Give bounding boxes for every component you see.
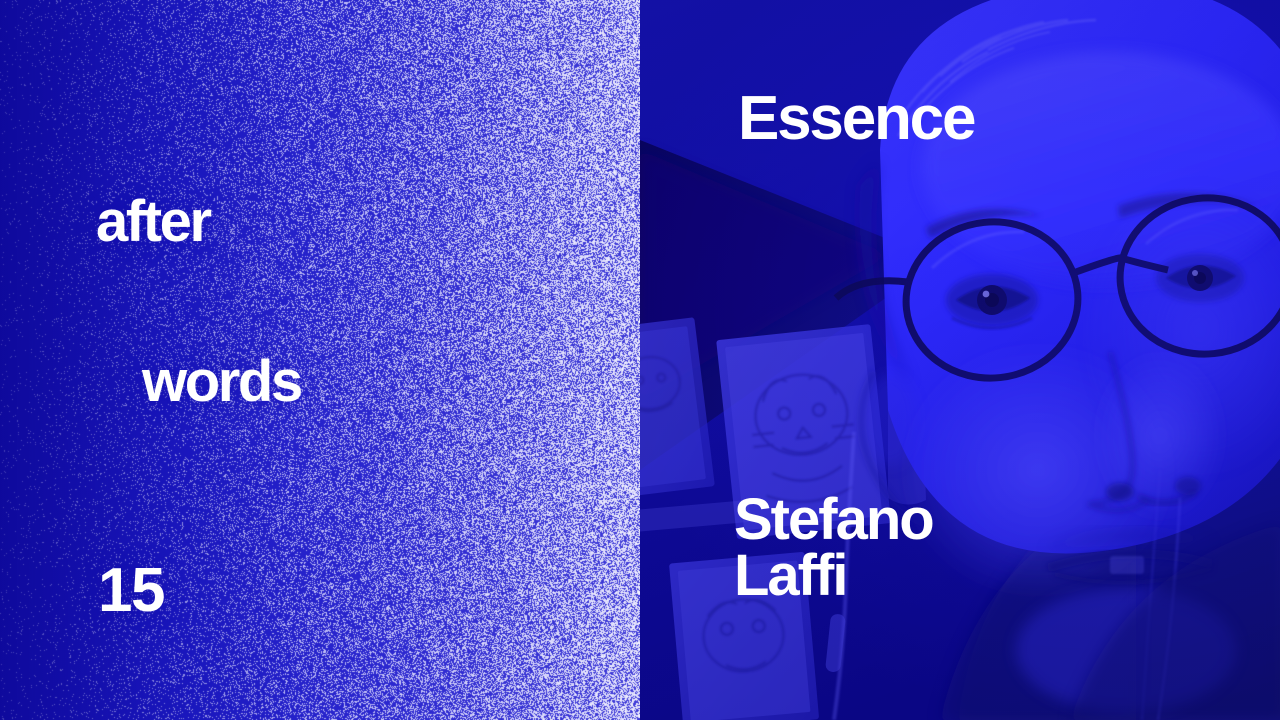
brand-logo-line-after: after bbox=[96, 195, 301, 248]
talk-title: Essence bbox=[738, 88, 974, 150]
brand-logo-line-words: words bbox=[142, 355, 301, 408]
title-card: after words 15 bbox=[0, 0, 1280, 720]
left-panel: after words 15 bbox=[0, 0, 640, 720]
eye-right bbox=[1156, 254, 1244, 302]
right-panel: Essence Stefano Laffi bbox=[640, 0, 1280, 720]
brand-logo: after words bbox=[96, 88, 301, 515]
speaker-name: Stefano Laffi bbox=[734, 492, 933, 603]
eye-left bbox=[946, 274, 1038, 328]
episode-number: 15 bbox=[98, 560, 164, 622]
